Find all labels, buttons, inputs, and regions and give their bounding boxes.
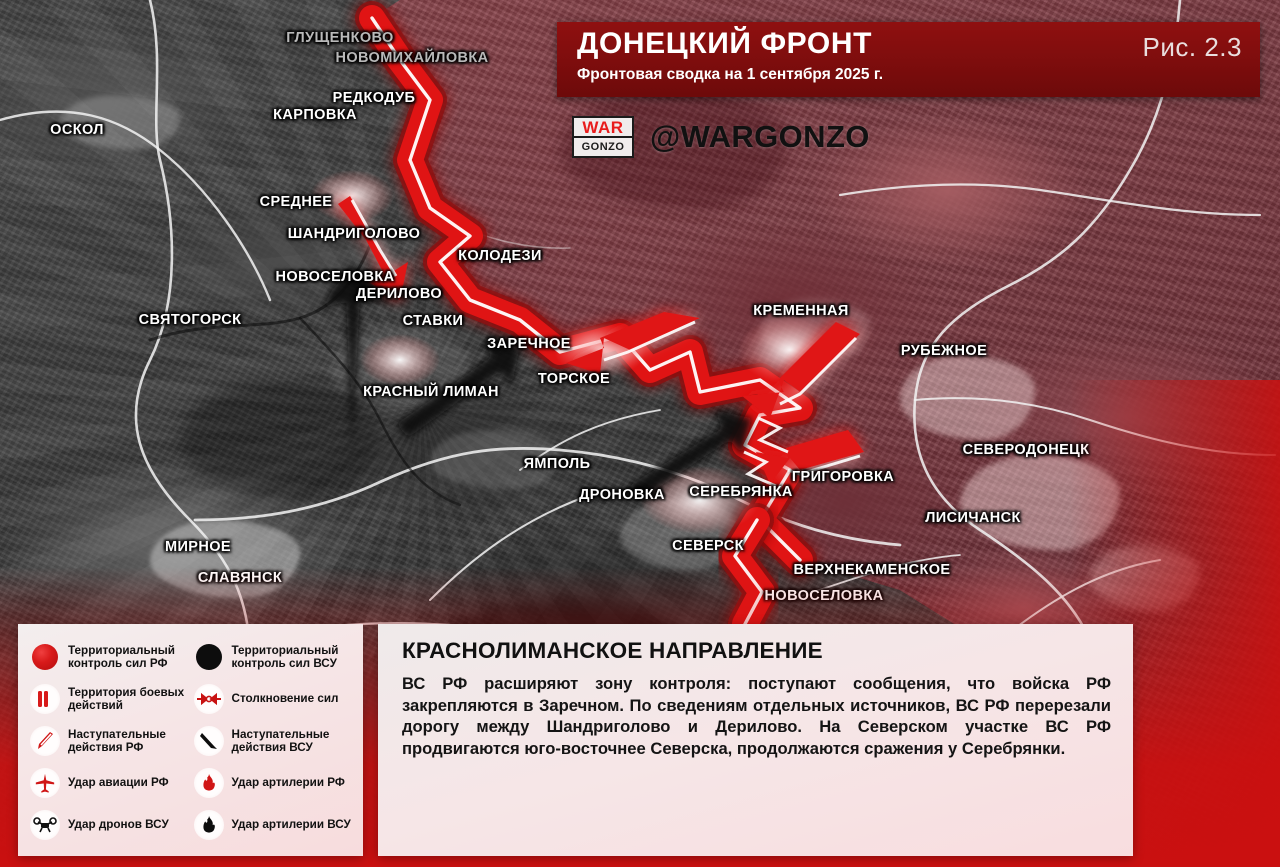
city-label: ДРОНОВКА	[579, 487, 665, 503]
city-label: СЕРЕБРЯНКА	[689, 484, 792, 500]
city-label: КРЕМЕННАЯ	[753, 303, 848, 319]
city-label: СРЕДНЕЕ	[260, 194, 333, 210]
city-label: ДЕРИЛОВО	[356, 286, 442, 302]
legend-item-label: Территориальный контроль сил ВСУ	[232, 644, 354, 670]
city-label: ШАНДРИГОЛОВО	[288, 226, 421, 242]
figure-label: Рис. 2.3	[1143, 32, 1242, 63]
legend-item: Столкновение сил	[194, 678, 354, 720]
legend-item: Удар артилерии ВСУ	[194, 804, 354, 846]
legend-item-label: Наступательные действия ВСУ	[232, 728, 354, 754]
legend-item: Удар авиации РФ	[30, 762, 190, 804]
direction-title: КРАСНОЛИМАНСКОЕ НАПРАВЛЕНИЕ	[402, 638, 1111, 664]
city-label: ВЕРХНЕКАМЕНСКОЕ	[794, 562, 951, 578]
legend-item-label: Удар дронов ВСУ	[68, 818, 169, 831]
legend-item: Территория боевых действий	[30, 678, 190, 720]
city-label: НОВОМИХАЙЛОВКА	[335, 50, 488, 66]
red-flame-icon	[194, 768, 224, 798]
city-label: ГЛУЩЕНКОВО	[286, 30, 394, 46]
city-label: ОСКОЛ	[50, 122, 104, 138]
black-offensive-arrow-icon	[194, 726, 224, 756]
legend-item-label: Столкновение сил	[232, 692, 339, 705]
city-label: КОЛОДЕЗИ	[458, 248, 542, 264]
city-label: СТАВКИ	[403, 313, 464, 329]
clash-hotspot	[360, 334, 440, 386]
page-title: ДОНЕЦКИЙ ФРОНТ	[577, 27, 872, 61]
drone-icon	[30, 810, 60, 840]
map-infographic: ГЛУЩЕНКОВОНОВОМИХАЙЛОВКАРЕДКОДУБКАРПОВКА…	[0, 0, 1280, 867]
legend-item: Территориальный контроль сил ВСУ	[194, 636, 354, 678]
city-label: НОВОСЕЛОВКА	[765, 588, 884, 604]
city-label: СЛАВЯНСК	[198, 570, 282, 586]
wargonzo-logo-icon: WAR GONZO	[572, 116, 634, 158]
wargonzo-handle: @WARGONZO	[650, 119, 870, 155]
city-label: МИРНОЕ	[165, 539, 231, 555]
city-label: ГРИГОРОВКА	[792, 469, 894, 485]
legend-item: Наступательные действия РФ	[30, 720, 190, 762]
city-label: ТОРСКОЕ	[538, 371, 610, 387]
clash-arrows-icon	[194, 684, 224, 714]
city-label: СЕВЕРОДОНЕЦК	[963, 442, 1090, 458]
direction-summary-panel: КРАСНОЛИМАНСКОЕ НАПРАВЛЕНИЕ ВС РФ расшир…	[378, 624, 1133, 856]
legend-item-label: Удар артилерии ВСУ	[232, 818, 351, 831]
legend-item: Наступательные действия ВСУ	[194, 720, 354, 762]
city-label: ЯМПОЛЬ	[524, 456, 591, 472]
city-label: КАРПОВКА	[273, 107, 357, 123]
city-label: ЛИСИЧАНСК	[925, 510, 1021, 526]
legend-item-label: Территория боевых действий	[68, 686, 190, 712]
city-label: ЗАРЕЧНОЕ	[487, 336, 571, 352]
map-legend: Территориальный контроль сил РФТерритори…	[18, 624, 363, 856]
city-label: СЕВЕРСК	[672, 538, 744, 554]
black-filled-circle-icon	[194, 642, 224, 672]
red-filled-circle-icon	[30, 642, 60, 672]
header-banner: ДОНЕЦКИЙ ФРОНТ Фронтовая сводка на 1 сен…	[557, 22, 1260, 97]
city-label: РЕДКОДУБ	[333, 90, 416, 106]
airplane-icon	[30, 768, 60, 798]
legend-item-label: Удар артилерии РФ	[232, 776, 345, 789]
wargonzo-branding: WAR GONZO @WARGONZO	[572, 116, 870, 158]
legend-item-label: Территориальный контроль сил РФ	[68, 644, 190, 670]
logo-gonzo-text: GONZO	[574, 138, 632, 156]
red-offensive-arrow-icon	[30, 726, 60, 756]
legend-item-label: Наступательные действия РФ	[68, 728, 190, 754]
legend-item: Территориальный контроль сил РФ	[30, 636, 190, 678]
city-label: НОВОСЕЛОВКА	[276, 269, 395, 285]
legend-item: Удар дронов ВСУ	[30, 804, 190, 846]
legend-item: Удар артилерии РФ	[194, 762, 354, 804]
city-label: СВЯТОГОРСК	[139, 312, 242, 328]
city-label: РУБЕЖНОЕ	[901, 343, 987, 359]
legend-item-label: Удар авиации РФ	[68, 776, 169, 789]
black-flame-icon	[194, 810, 224, 840]
city-label: КРАСНЫЙ ЛИМАН	[363, 384, 499, 400]
header-subtitle: Фронтовая сводка на 1 сентября 2025 г.	[577, 66, 883, 84]
logo-war-text: WAR	[574, 118, 632, 138]
red-hatch-bars-icon	[30, 684, 60, 714]
direction-body: ВС РФ расширяют зону контроля: поступают…	[402, 673, 1111, 760]
